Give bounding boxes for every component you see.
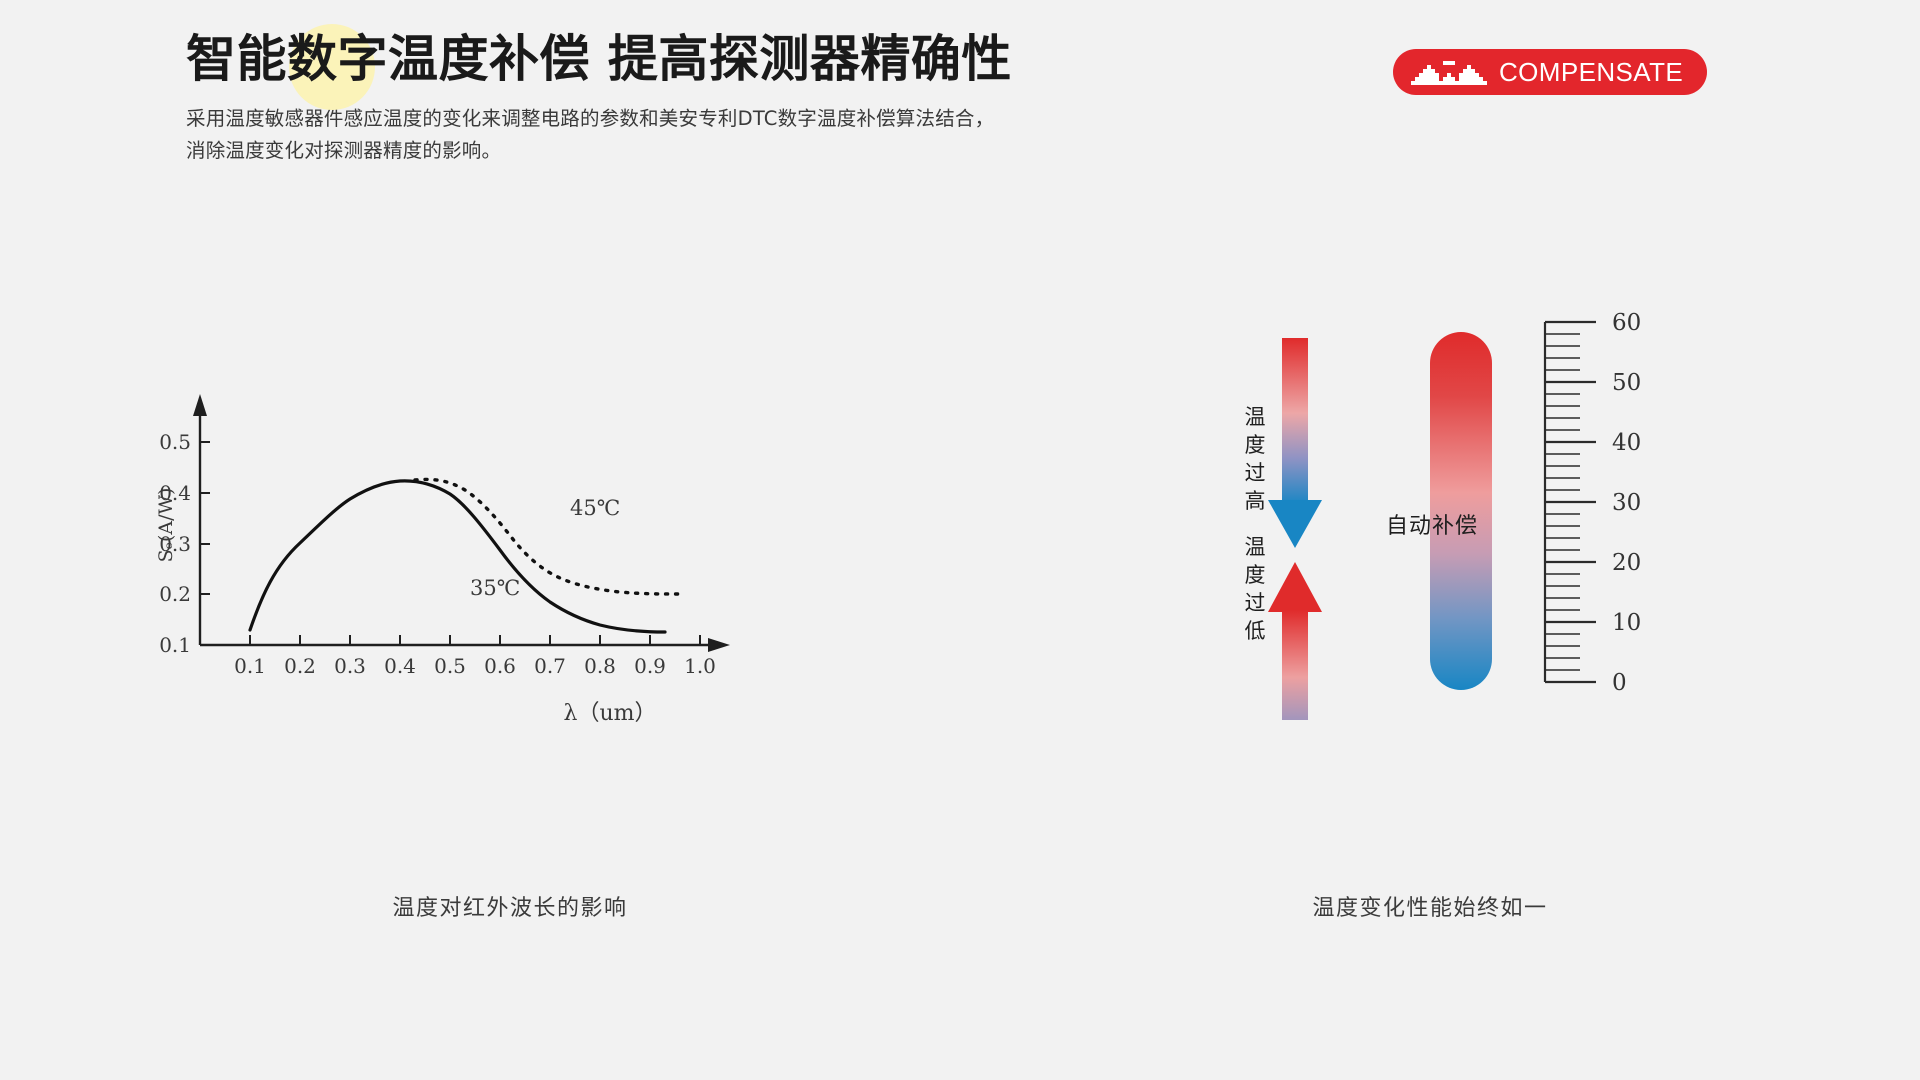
y-tick-label: 0.2	[159, 582, 191, 606]
responsivity-chart-svg: 0.5 0.4 0.3 0.2 0.1 0.1 0.2 0.3 0.4 0.5 …	[150, 380, 870, 800]
scale-number: 60	[1612, 310, 1641, 336]
thermometer-svg: 60 50 40 30 20 10 0	[1240, 300, 1720, 720]
page-header: 智能数字温度补偿 提高探测器精确性 采用温度敏感器件感应温度的变化来调整电路的参…	[186, 30, 1012, 166]
scale-number: 50	[1612, 370, 1641, 396]
y-axis-arrowhead	[193, 394, 207, 416]
y-tick-label: 0.5	[159, 430, 191, 454]
x-tick-label: 0.4	[384, 654, 416, 678]
page-title-wrap: 智能数字温度补偿 提高探测器精确性	[186, 30, 1012, 89]
chart-axes	[200, 412, 715, 645]
pixel-mountain-wave-icon	[1411, 59, 1487, 85]
annotation-35c: 35℃	[470, 576, 520, 600]
x-tick-label: 1.0	[684, 654, 716, 678]
thermometer-scale-labels: 60 50 40 30 20 10 0	[1612, 310, 1641, 696]
label-auto-compensate: 自动补偿	[1386, 508, 1478, 540]
x-tick-label: 0.5	[434, 654, 466, 678]
page-subtitle: 采用温度敏感器件感应温度的变化来调整电路的参数和美安专利DTC数字温度补偿算法结…	[186, 103, 1012, 166]
responsivity-chart: 0.5 0.4 0.3 0.2 0.1 0.1 0.2 0.3 0.4 0.5 …	[150, 380, 870, 800]
badge-label: COMPENSATE	[1499, 57, 1683, 88]
x-axis-ticks	[250, 635, 700, 645]
x-tick-label: 0.8	[584, 654, 616, 678]
label-temperature-too-low: 温度过低	[1242, 534, 1268, 646]
up-arrow-red-icon	[1268, 562, 1322, 720]
x-tick-label: 0.3	[334, 654, 366, 678]
x-tick-label: 0.2	[284, 654, 316, 678]
x-tick-label: 0.1	[234, 654, 266, 678]
label-temperature-too-high: 温度过高	[1242, 404, 1268, 516]
x-tick-label: 0.6	[484, 654, 516, 678]
page-title: 智能数字温度补偿 提高探测器精确性	[186, 30, 1012, 89]
y-axis-ticks	[200, 442, 210, 594]
x-tick-label: 0.9	[634, 654, 666, 678]
x-axis-tick-labels: 0.1 0.2 0.3 0.4 0.5 0.6 0.7 0.8 0.9 1.0	[234, 654, 716, 678]
scale-number: 0	[1612, 670, 1627, 696]
scale-number: 30	[1612, 490, 1641, 516]
x-axis-arrowhead	[708, 638, 730, 652]
scale-number: 20	[1612, 550, 1641, 576]
down-arrow-blue-icon	[1268, 338, 1322, 548]
thermometer-caption: 温度变化性能始终如一	[1190, 890, 1670, 922]
scale-number: 10	[1612, 610, 1641, 636]
y-tick-label: 0.1	[159, 633, 191, 657]
compensate-badge[interactable]: COMPENSATE	[1393, 49, 1707, 95]
x-tick-label: 0.7	[534, 654, 566, 678]
x-axis-label: λ（um）	[564, 701, 657, 726]
thermometer-illustration: 60 50 40 30 20 10 0	[1240, 300, 1720, 720]
y-axis-label: Sₑ(A/W)	[155, 488, 177, 563]
annotation-45c: 45℃	[570, 496, 620, 520]
scale-number: 40	[1612, 430, 1641, 456]
chart-caption: 温度对红外波长的影响	[150, 890, 870, 922]
thermometer-scale	[1545, 322, 1596, 682]
